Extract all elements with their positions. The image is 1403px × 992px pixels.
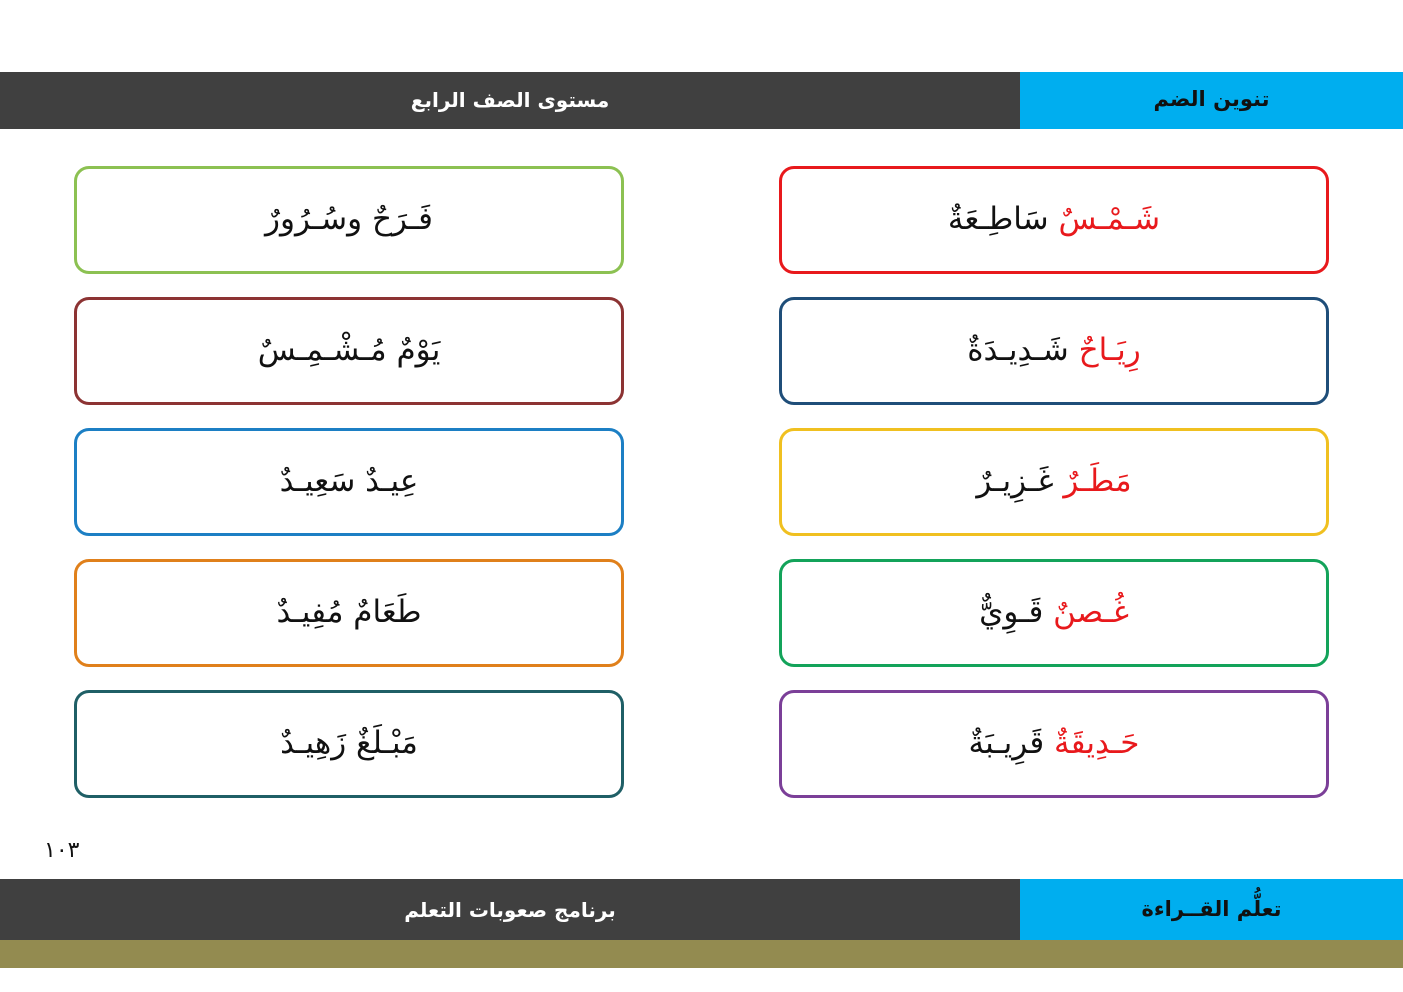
highlighted-tanween-word: رِيَـاحٌ [1079, 332, 1141, 368]
bottom-accent-strip [0, 940, 1403, 968]
plain-word: طَعَامٌ مُفِيـدٌ [276, 594, 421, 630]
card-word-text: طَعَامٌ مُفِيـدٌ [276, 592, 421, 634]
card-word-text: حَـدِيقَةٌ قَرِيـبَةٌ [969, 723, 1140, 765]
card-matar-ghazir[interactable]: مَطَـرٌ غَـزِيـرٌ [779, 428, 1329, 536]
plain-word: غَـزِيـرٌ [976, 463, 1063, 499]
plain-word: قَرِيـبَةٌ [969, 725, 1054, 761]
card-word-text: غُـصنٌ قَـوِيٌّ [979, 592, 1129, 634]
plain-word: عِيـدٌ سَعِيـدٌ [280, 463, 419, 499]
footer-brand-title: تعلُّم القــراءة [1141, 899, 1281, 920]
card-word-text: شَـمْـسٌ سَاطِـعَةٌ [948, 199, 1160, 241]
card-column-right: شَـمْـسٌ سَاطِـعَةٌرِيَـاحٌ شَـدِيـدَةٌم… [779, 166, 1329, 811]
highlighted-tanween-word: شَـمْـسٌ [1059, 201, 1161, 237]
page-header: تنوين الضم مستوى الصف الرابع [0, 72, 1403, 129]
card-word-text: عِيـدٌ سَعِيـدٌ [280, 461, 419, 503]
page-footer: تعلُّم القــراءة برنامج صعوبات التعلم [0, 879, 1403, 940]
highlighted-tanween-word: مَطَـرٌ [1063, 463, 1131, 499]
card-word-text: مَطَـرٌ غَـزِيـرٌ [976, 461, 1131, 503]
plain-word: مَبْـلَغٌ زَهِيـدٌ [280, 725, 418, 761]
card-hadiqa-qariba[interactable]: حَـدِيقَةٌ قَرِيـبَةٌ [779, 690, 1329, 798]
footer-program-title: برنامج صعوبات التعلم [404, 900, 616, 920]
plain-word: شَـدِيـدَةٌ [967, 332, 1078, 368]
header-level-banner: مستوى الصف الرابع [0, 72, 1020, 129]
plain-word: يَوْمٌ مُـشْـمِـسٌ [258, 332, 441, 368]
card-word-text: فَـرَحٌ وسُـرُورٌ [265, 199, 433, 241]
footer-brand-banner: تعلُّم القــراءة [1020, 879, 1403, 940]
footer-program-banner: برنامج صعوبات التعلم [0, 879, 1020, 940]
card-mablagh-zahid[interactable]: مَبْـلَغٌ زَهِيـدٌ [74, 690, 624, 798]
card-riyah-shadida[interactable]: رِيَـاحٌ شَـدِيـدَةٌ [779, 297, 1329, 405]
page-number: ١٠٣ [44, 838, 79, 863]
card-column-left: فَـرَحٌ وسُـرُورٌيَوْمٌ مُـشْـمِـسٌعِيـد… [74, 166, 624, 811]
plain-word: سَاطِـعَةٌ [948, 201, 1059, 237]
worksheet-page: تنوين الضم مستوى الصف الرابع شَـمْـسٌ سَ… [0, 0, 1403, 992]
highlighted-tanween-word: حَـدِيقَةٌ [1054, 725, 1139, 761]
header-topic-banner: تنوين الضم [1020, 72, 1403, 129]
card-word-text: يَوْمٌ مُـشْـمِـسٌ [258, 330, 441, 372]
header-level-title: مستوى الصف الرابع [411, 90, 609, 112]
card-farah-surur[interactable]: فَـرَحٌ وسُـرُورٌ [74, 166, 624, 274]
card-word-text: مَبْـلَغٌ زَهِيـدٌ [280, 723, 418, 765]
card-shams-satiaa[interactable]: شَـمْـسٌ سَاطِـعَةٌ [779, 166, 1329, 274]
word-cards-area: شَـمْـسٌ سَاطِـعَةٌرِيَـاحٌ شَـدِيـدَةٌم… [0, 166, 1403, 811]
card-taam-mufid[interactable]: طَعَامٌ مُفِيـدٌ [74, 559, 624, 667]
plain-word: فَـرَحٌ وسُـرُورٌ [265, 201, 433, 237]
plain-word: قَـوِيٌّ [979, 594, 1053, 630]
card-word-text: رِيَـاحٌ شَـدِيـدَةٌ [967, 330, 1141, 372]
card-ghusn-qawi[interactable]: غُـصنٌ قَـوِيٌّ [779, 559, 1329, 667]
card-eid-saeed[interactable]: عِيـدٌ سَعِيـدٌ [74, 428, 624, 536]
header-topic-title: تنوين الضم [1154, 89, 1270, 112]
card-yawm-mushmis[interactable]: يَوْمٌ مُـشْـمِـسٌ [74, 297, 624, 405]
highlighted-tanween-word: غُـصنٌ [1053, 594, 1129, 630]
